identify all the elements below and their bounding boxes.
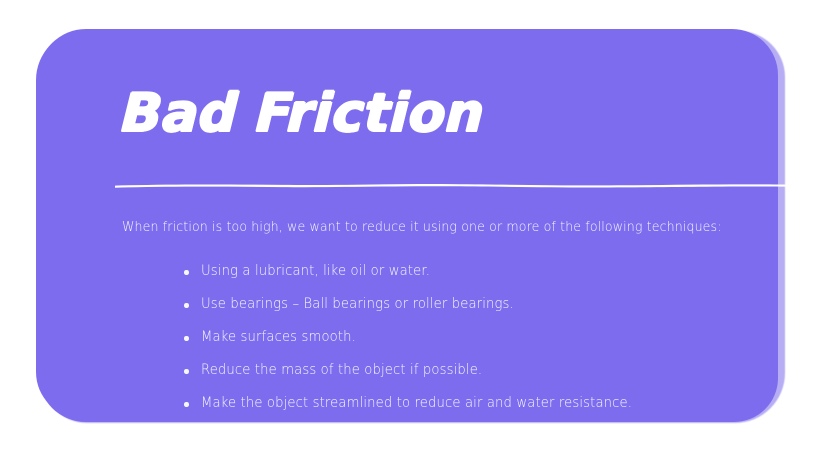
list-item: Make surfaces smooth. <box>184 321 660 354</box>
title-divider <box>114 181 791 187</box>
card-inner: Bad Friction When friction is too high, … <box>38 29 778 422</box>
bullet-dot-icon <box>184 336 189 341</box>
list-item: Reduce the mass of the object if possibl… <box>184 354 660 387</box>
content-card: Bad Friction When friction is too high, … <box>38 29 778 422</box>
list-item-label: Make the object streamlined to reduce ai… <box>201 387 632 420</box>
slide-title: Bad Friction <box>121 87 486 140</box>
bullet-dot-icon <box>184 369 189 374</box>
list-item: Use bearings – Ball bearings or roller b… <box>184 288 660 321</box>
list-item-label: Use bearings – Ball bearings or roller b… <box>201 288 514 321</box>
list-item: Using a lubricant, like oil or water. <box>184 255 660 288</box>
intro-paragraph: When friction is too high, we want to re… <box>122 219 722 235</box>
list-item-label: Make surfaces smooth. <box>201 321 356 354</box>
list-item-label: Using a lubricant, like oil or water. <box>201 255 430 288</box>
list-item: Make the object streamlined to reduce ai… <box>184 387 660 420</box>
bullet-dot-icon <box>184 303 189 308</box>
techniques-list: Using a lubricant, like oil or water. Us… <box>184 255 660 420</box>
slide-canvas: Bad Friction When friction is too high, … <box>0 0 828 466</box>
list-item-label: Reduce the mass of the object if possibl… <box>201 354 482 387</box>
bullet-dot-icon <box>184 270 189 275</box>
bullet-dot-icon <box>184 402 189 407</box>
